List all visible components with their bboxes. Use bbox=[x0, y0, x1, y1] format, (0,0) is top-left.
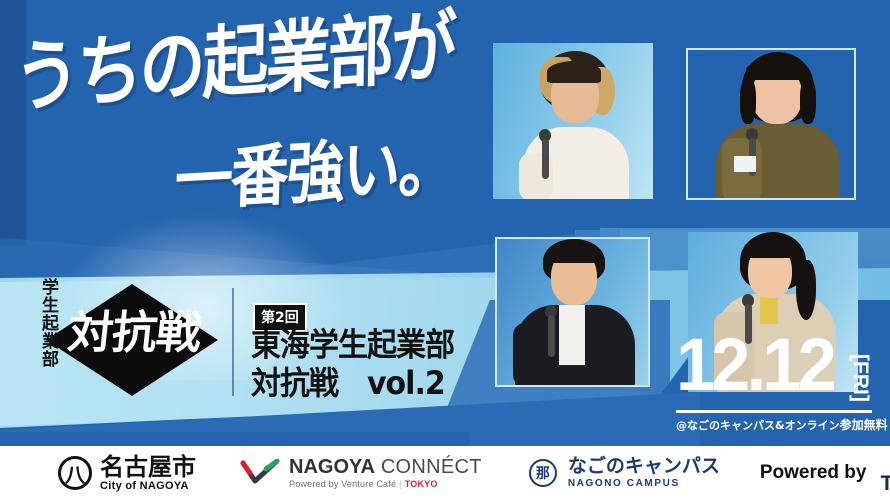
headline-line-2: 一番強い。 bbox=[174, 132, 456, 215]
logo-nagoya-connect[interactable]: NAGOYA CONNÉCT Powered by Venture Café|T… bbox=[240, 457, 482, 489]
date-block: 12.12 [FRI] @なごのキャンパス&オンライン 参加無料 bbox=[672, 330, 882, 430]
title-divider bbox=[232, 288, 234, 396]
nagono-campus-en: NAGONO CAMPUS bbox=[568, 479, 720, 489]
background-bottom-strip bbox=[0, 432, 470, 446]
event-title-line-2: 対抗戦 vol.2 bbox=[251, 365, 454, 403]
connect-tagline-city: TOKYO bbox=[405, 479, 438, 489]
nagoya-city-jp: 名古屋市 bbox=[100, 455, 196, 479]
logo-nagoya-city[interactable]: 名古屋市 City of NAGOYA bbox=[58, 455, 196, 492]
nagono-campus-jp: なごのキャンパス bbox=[568, 457, 720, 476]
date-subline: @なごのキャンパス&オンライン 参加無料 bbox=[676, 416, 876, 433]
nagono-campus-kanji: 那 bbox=[529, 459, 557, 487]
emblem-main-text: 対抗戦 bbox=[51, 302, 218, 368]
logo-nagono-campus[interactable]: 那 なごのキャンパス NAGONO CAMPUS bbox=[526, 457, 720, 489]
event-title: 東海学生起業部 対抗戦 vol.2 bbox=[251, 327, 454, 403]
photo-frame-3 bbox=[495, 237, 650, 387]
date-rule bbox=[676, 410, 872, 413]
logo-tongali[interactable]: Tongali bbox=[880, 450, 890, 496]
photo-speaker-1 bbox=[493, 43, 653, 199]
connect-tagline: Powered by Venture Café bbox=[289, 479, 396, 489]
connect-tagline-bar: | bbox=[399, 479, 402, 489]
person-illustration bbox=[517, 49, 635, 199]
headline-line-1: うちの起業部が bbox=[13, 8, 454, 118]
event-fee: 参加無料 bbox=[840, 416, 888, 433]
event-date: 12.12 bbox=[676, 326, 833, 404]
nagoya-city-en: City of NAGOYA bbox=[100, 481, 196, 492]
sponsor-footer: 名古屋市 City of NAGOYA NAGOYA CONNÉCT bbox=[0, 446, 890, 500]
poster-canvas: うちの起業部が 一番強い。 bbox=[0, 0, 890, 500]
nagoya-city-maru-hachi-icon bbox=[58, 456, 92, 490]
nagono-campus-crest-icon: 那 bbox=[526, 458, 560, 488]
event-title-line-1: 東海学生起業部 bbox=[251, 327, 454, 364]
taikousen-emblem: 対抗戦 学生起業部 bbox=[28, 276, 218, 401]
powered-by-label: Powered by bbox=[760, 462, 867, 484]
connect-light-word: CONNÉCT bbox=[381, 456, 482, 478]
connect-bold-word: NAGOYA bbox=[289, 456, 375, 478]
event-venue: @なごのキャンパス&オンライン bbox=[676, 417, 840, 433]
event-weekday: [FRI] bbox=[848, 354, 872, 402]
photo-frame-2 bbox=[686, 48, 856, 200]
headline: うちの起業部が 一番強い。 bbox=[0, 22, 480, 222]
emblem-vertical-text: 学生起業部 bbox=[36, 278, 59, 398]
check-mark-icon bbox=[240, 459, 280, 487]
powered-by-block: Powered by Tongali bbox=[760, 450, 890, 496]
tongali-word-main: Tonga bbox=[880, 472, 890, 495]
